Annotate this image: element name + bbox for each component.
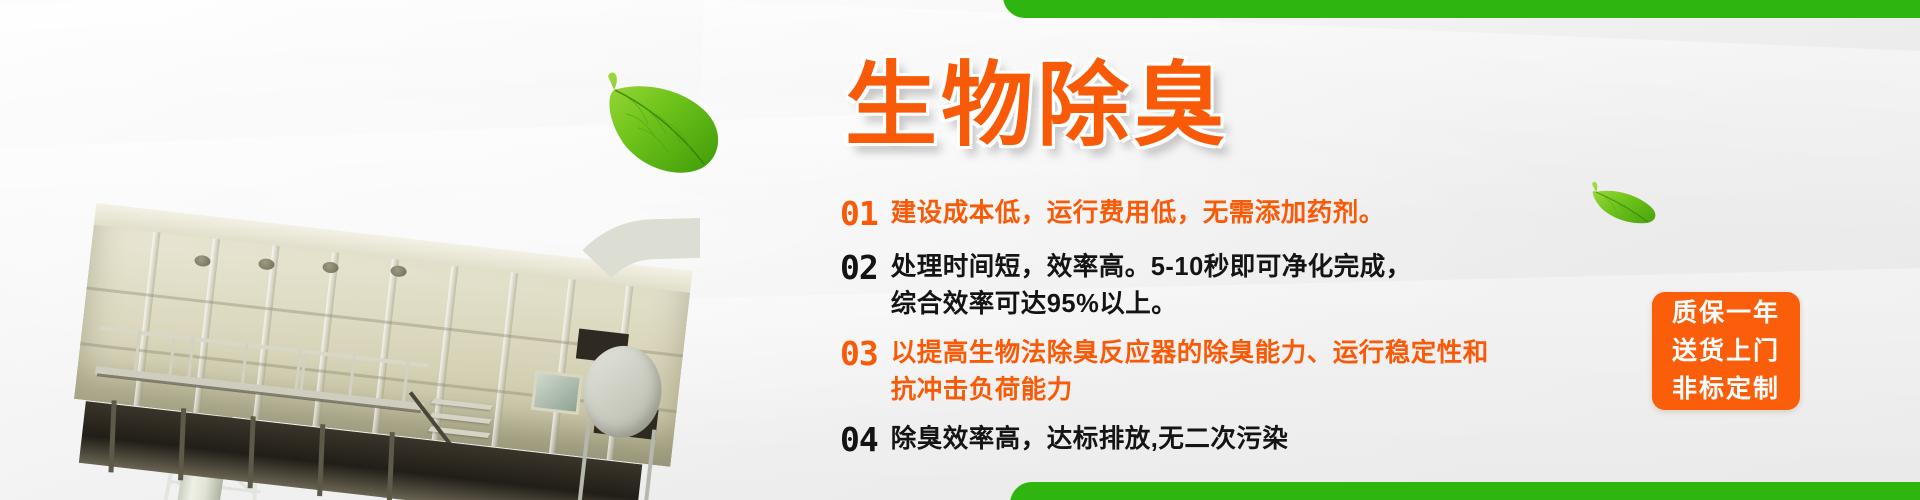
deodorization-plant-illustration — [68, 215, 691, 500]
list-item-text: 建设成本低，运行费用低，无需添加药剂。 — [891, 195, 1385, 232]
list-item-number: 01 — [840, 195, 878, 233]
list-item: 01 建设成本低，运行费用低，无需添加药剂。 — [840, 195, 1660, 233]
list-item-text: 处理时间短，效率高。5-10秒即可净化完成， 综合效率可达95%以上。 — [891, 249, 1412, 323]
banner-content: 生物除臭 01 建设成本低，运行费用低，无需添加药剂。 02 处理时间短，效率高… — [840, 0, 1920, 500]
badge-line-warranty: 质保一年 — [1672, 294, 1780, 332]
list-item: 03 以提高生物法除臭反应器的除臭能力、运行稳定性和 抗冲击负荷能力 — [840, 335, 1660, 409]
page-title: 生物除臭 — [845, 60, 1229, 152]
guarantee-badge[interactable]: 质保一年 送货上门 非标定制 — [1652, 292, 1800, 410]
list-item-number: 02 — [840, 249, 878, 287]
list-item-number: 03 — [840, 335, 878, 373]
stair-step — [429, 412, 492, 423]
promo-banner: 生物除臭 01 建设成本低，运行费用低，无需添加药剂。 02 处理时间短，效率高… — [0, 0, 1920, 500]
list-item-number: 04 — [840, 421, 878, 459]
badge-line-custom: 非标定制 — [1672, 370, 1780, 408]
list-item: 04 除臭效率高，达标排放,无二次污染 — [840, 421, 1660, 459]
badge-line-delivery: 送货上门 — [1672, 332, 1780, 370]
list-item: 02 处理时间短，效率高。5-10秒即可净化完成， 综合效率可达95%以上。 — [840, 249, 1660, 323]
stair-step — [431, 399, 494, 410]
equipment-photo — [0, 0, 700, 500]
list-item-text: 以提高生物法除臭反应器的除臭能力、运行稳定性和 抗冲击负荷能力 — [891, 335, 1489, 409]
list-item-text: 除臭效率高，达标排放,无二次污染 — [891, 421, 1289, 458]
feature-list: 01 建设成本低，运行费用低，无需添加药剂。 02 处理时间短，效率高。5-10… — [840, 195, 1660, 473]
